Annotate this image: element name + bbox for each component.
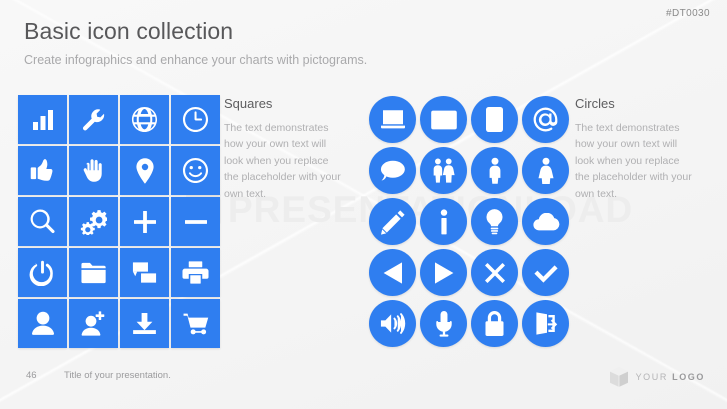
pencil-icon[interactable]	[369, 198, 416, 245]
squares-icon-grid	[18, 95, 220, 348]
clock-icon[interactable]	[171, 95, 220, 144]
checkmark-icon[interactable]	[522, 249, 569, 296]
download-icon[interactable]	[120, 299, 169, 348]
footer-title: Title of your presentation.	[64, 370, 171, 381]
user-icon[interactable]	[18, 299, 67, 348]
circles-heading: Circles	[575, 96, 615, 111]
gears-icon[interactable]	[69, 197, 118, 246]
wrench-icon[interactable]	[69, 95, 118, 144]
page-title: Basic icon collection	[24, 18, 233, 45]
logo-text-bold: LOGO	[672, 372, 705, 382]
logo-text-light: YOUR	[636, 372, 668, 382]
document-id: #DT0030	[666, 8, 710, 19]
cube-icon	[609, 366, 629, 388]
cloud-icon[interactable]	[522, 198, 569, 245]
power-icon[interactable]	[18, 248, 67, 297]
speaker-volume-icon[interactable]	[369, 300, 416, 347]
man-icon[interactable]	[471, 147, 518, 194]
search-icon[interactable]	[18, 197, 67, 246]
close-x-icon[interactable]	[471, 249, 518, 296]
circles-icon-grid	[368, 95, 570, 348]
two-people-icon[interactable]	[420, 147, 467, 194]
bar-chart-icon[interactable]	[18, 95, 67, 144]
info-icon[interactable]	[420, 198, 467, 245]
lightbulb-icon[interactable]	[471, 198, 518, 245]
plus-icon[interactable]	[120, 197, 169, 246]
minus-icon[interactable]	[171, 197, 220, 246]
page-subtitle: Create infographics and enhance your cha…	[24, 53, 367, 67]
play-triangle-icon[interactable]	[420, 249, 467, 296]
squares-body-text: The text demonstrates how your own text …	[224, 120, 344, 202]
hand-icon[interactable]	[69, 146, 118, 195]
logo-area: YOUR LOGO	[609, 366, 705, 388]
shopping-cart-icon[interactable]	[171, 299, 220, 348]
envelope-icon[interactable]	[420, 96, 467, 143]
map-pin-icon[interactable]	[120, 146, 169, 195]
woman-icon[interactable]	[522, 147, 569, 194]
at-sign-icon[interactable]	[522, 96, 569, 143]
exit-door-icon[interactable]	[522, 300, 569, 347]
laptop-icon[interactable]	[369, 96, 416, 143]
chat-bubbles-icon[interactable]	[120, 248, 169, 297]
folder-icon[interactable]	[69, 248, 118, 297]
globe-icon[interactable]	[120, 95, 169, 144]
circles-body-text: The text demonstrates how your own text …	[575, 120, 695, 202]
microphone-icon[interactable]	[420, 300, 467, 347]
slide-canvas: PRESENTATIONLOAD #DT0030 Basic icon coll…	[0, 0, 727, 409]
printer-icon[interactable]	[171, 248, 220, 297]
add-user-icon[interactable]	[69, 299, 118, 348]
speech-bubble-icon[interactable]	[369, 147, 416, 194]
page-number: 46	[26, 370, 37, 381]
squares-heading: Squares	[224, 96, 272, 111]
thumbs-up-icon[interactable]	[18, 146, 67, 195]
smiley-icon[interactable]	[171, 146, 220, 195]
logo-text: YOUR LOGO	[636, 372, 705, 382]
previous-triangle-icon[interactable]	[369, 249, 416, 296]
tablet-icon[interactable]	[471, 96, 518, 143]
lock-icon[interactable]	[471, 300, 518, 347]
